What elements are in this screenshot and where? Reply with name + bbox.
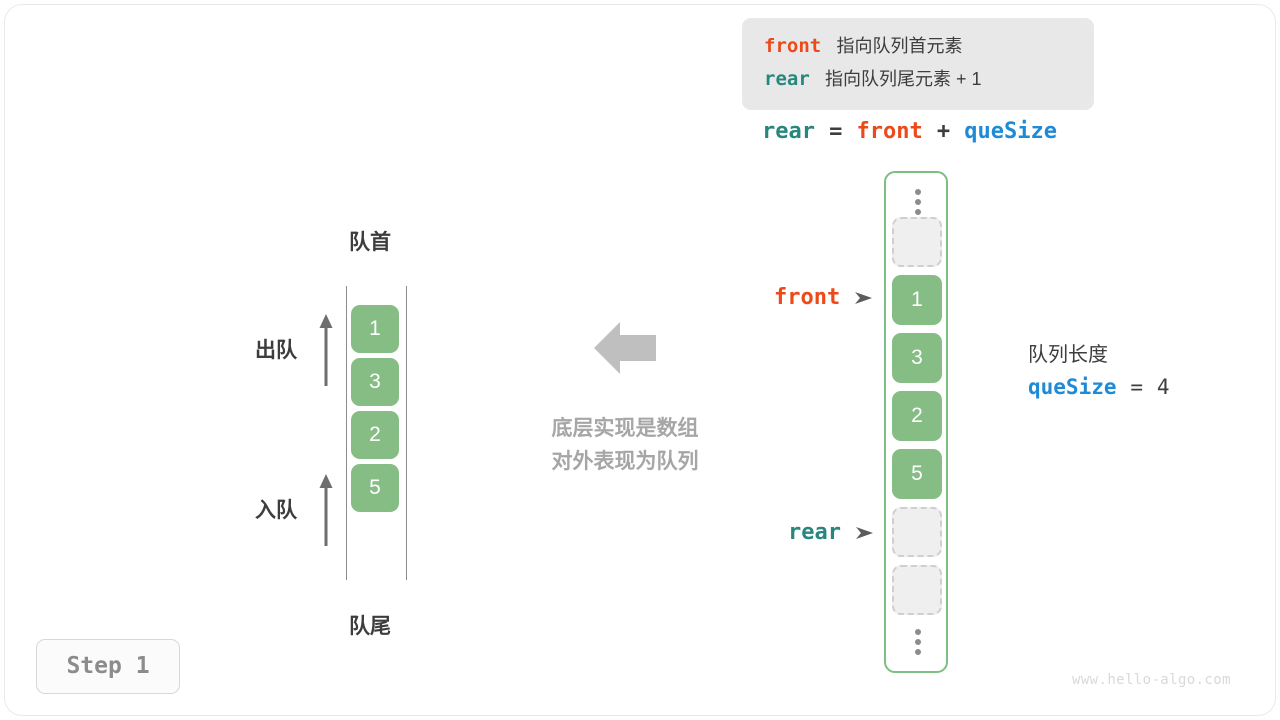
formula-front: front <box>856 119 922 144</box>
queue-cell: 2 <box>351 411 399 459</box>
front-pointer-annotation: front <box>774 284 873 310</box>
queue-tail-label: 队尾 <box>349 610 391 640</box>
center-caption-line2: 对外表现为队列 <box>528 445 722 478</box>
rear-pointer-annotation: rear <box>788 519 874 545</box>
queue-cell: 3 <box>351 358 399 406</box>
array-bottom-ellipsis-icon <box>886 625 950 659</box>
note-term-rear: rear <box>764 68 810 90</box>
array-slot-filled: 3 <box>892 333 942 383</box>
formula-rear: rear <box>762 119 815 144</box>
enqueue-arrow-icon <box>318 474 334 546</box>
queue-head-label: 队首 <box>349 226 391 256</box>
note-text-rear: 指向队列尾元素 + 1 <box>825 69 982 89</box>
note-line-front: front 指向队列首元素 <box>764 30 1094 63</box>
quesize-equals: = <box>1130 375 1143 399</box>
array-slot-filled: 1 <box>892 275 942 325</box>
quesize-name: queSize <box>1028 375 1117 399</box>
dequeue-arrow-icon <box>318 314 334 386</box>
pointer-arrowhead-icon <box>855 291 873 305</box>
array-slot-empty <box>892 565 942 615</box>
note-term-front: front <box>764 35 821 57</box>
queue-tube-right-wall <box>406 286 407 580</box>
enqueue-label: 入队 <box>255 494 297 524</box>
dequeue-label: 出队 <box>255 334 297 364</box>
queue-cell: 5 <box>351 464 399 512</box>
queue-cell-stack: 1 3 2 5 <box>351 305 399 512</box>
pointer-arrowhead-icon <box>856 526 874 540</box>
array-slot-empty <box>892 217 942 267</box>
center-caption-line1: 底层实现是数组 <box>528 412 722 445</box>
formula-plus: + <box>937 119 950 144</box>
array-slot-filled: 5 <box>892 449 942 499</box>
quesize-value: 4 <box>1157 375 1170 399</box>
queue-size-block: 队列长度 queSize = 4 <box>1028 340 1170 405</box>
center-caption: 底层实现是数组 对外表现为队列 <box>528 412 722 478</box>
left-arrow-icon <box>594 320 656 376</box>
pointer-definition-note: front 指向队列首元素 rear 指向队列尾元素 + 1 <box>742 18 1094 110</box>
queue-cell: 1 <box>351 305 399 353</box>
step-badge: Step 1 <box>36 639 180 694</box>
queue-tube-left-wall <box>346 286 347 580</box>
note-line-rear: rear 指向队列尾元素 + 1 <box>764 63 1094 96</box>
rear-pointer-label: rear <box>788 520 841 545</box>
array-slot-empty <box>892 507 942 557</box>
queue-size-expression: queSize = 4 <box>1028 370 1170 405</box>
backing-array-container: 1 3 2 5 <box>884 171 948 673</box>
formula-quesize: queSize <box>964 119 1057 144</box>
queue-size-label: 队列长度 <box>1028 340 1170 370</box>
rear-formula: rear = front + queSize <box>762 118 1057 144</box>
array-top-ellipsis-icon <box>886 185 950 219</box>
formula-equals: = <box>829 119 842 144</box>
front-pointer-label: front <box>774 285 840 310</box>
diagram-canvas: front 指向队列首元素 rear 指向队列尾元素 + 1 rear = fr… <box>0 0 1280 720</box>
array-slot-filled: 2 <box>892 391 942 441</box>
note-text-front: 指向队列首元素 <box>836 36 962 56</box>
watermark: www.hello-algo.com <box>1072 672 1231 688</box>
